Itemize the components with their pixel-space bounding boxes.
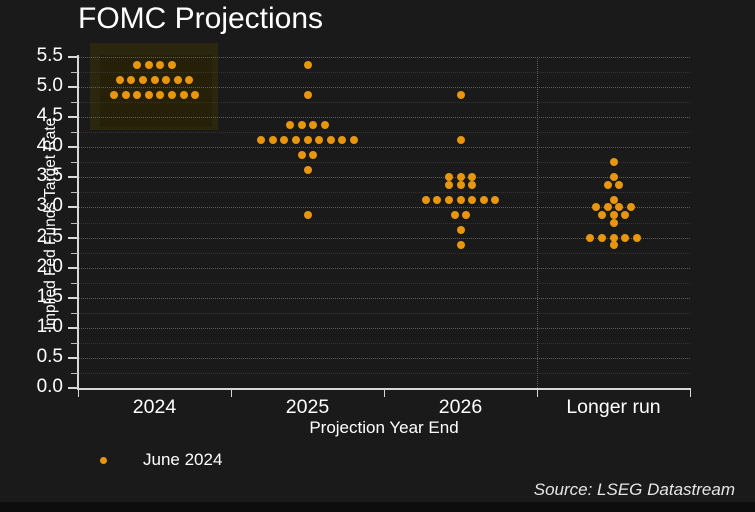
y-tick-mark-minor (71, 313, 78, 314)
gridline-major (78, 298, 690, 299)
data-point (156, 61, 164, 69)
y-tick-label: 2.5 (3, 226, 63, 248)
y-tick-label: 2.0 (3, 256, 63, 278)
legend-marker-icon (100, 457, 107, 464)
legend: June 2024 (100, 450, 222, 470)
data-point (491, 196, 499, 204)
y-tick-mark (68, 237, 78, 239)
data-point (304, 166, 312, 174)
data-point (604, 203, 612, 211)
data-point (174, 76, 182, 84)
gridline-minor (78, 72, 690, 73)
y-tick-mark-minor (71, 253, 78, 254)
data-point (445, 181, 453, 189)
gridline-major (78, 328, 690, 329)
y-tick-mark (68, 297, 78, 299)
data-point (304, 61, 312, 69)
data-point (298, 121, 306, 129)
y-tick-mark-minor (71, 102, 78, 103)
data-point (621, 211, 629, 219)
gridline-major (78, 358, 690, 359)
bottom-strip (0, 502, 755, 512)
data-point (168, 91, 176, 99)
y-tick-mark-minor (71, 223, 78, 224)
data-point (468, 196, 476, 204)
y-tick-label: 5.0 (3, 75, 63, 97)
data-point (457, 226, 465, 234)
data-point (610, 158, 618, 166)
data-point (586, 234, 594, 242)
data-point (156, 91, 164, 99)
chart-root: FOMC Projections Implied Fed Funds Targe… (0, 0, 755, 512)
y-tick-mark (68, 206, 78, 208)
y-tick-mark (68, 56, 78, 58)
data-point (457, 136, 465, 144)
category-separator (537, 57, 538, 388)
data-point (350, 136, 358, 144)
data-point (191, 91, 199, 99)
y-tick-label: 0.0 (3, 376, 63, 398)
gridline-minor (78, 102, 690, 103)
data-point (139, 76, 147, 84)
data-point (610, 241, 618, 249)
data-point (286, 121, 294, 129)
gridline-minor (78, 343, 690, 344)
x-tick-label: 2026 (381, 396, 541, 419)
y-tick-mark (68, 327, 78, 329)
data-point (598, 234, 606, 242)
data-point (598, 211, 606, 219)
y-tick-mark (68, 86, 78, 88)
data-point (457, 196, 465, 204)
y-tick-mark-minor (71, 162, 78, 163)
gridline-minor (78, 373, 690, 374)
data-point (604, 181, 612, 189)
data-point (457, 91, 465, 99)
data-point (615, 203, 623, 211)
gridline-major (78, 117, 690, 118)
data-point (133, 61, 141, 69)
gridline-major (78, 177, 690, 178)
legend-item-label: June 2024 (143, 450, 222, 470)
x-tick-label: Longer run (534, 396, 694, 419)
data-point (151, 76, 159, 84)
data-point (610, 211, 618, 219)
y-tick-mark (68, 176, 78, 178)
plot-area (78, 57, 690, 388)
data-point (633, 234, 641, 242)
y-tick-label: 4.0 (3, 135, 63, 157)
x-tick-label: 2024 (75, 396, 235, 419)
y-tick-mark-minor (71, 343, 78, 344)
data-point (592, 203, 600, 211)
data-point (309, 121, 317, 129)
gridline-minor (78, 313, 690, 314)
y-tick-label: 1.5 (3, 286, 63, 308)
y-tick-mark-minor (71, 283, 78, 284)
y-tick-label: 0.5 (3, 346, 63, 368)
data-point (257, 136, 265, 144)
data-point (610, 219, 618, 227)
gridline-minor (78, 132, 690, 133)
data-point (168, 61, 176, 69)
gridline-major (78, 57, 690, 58)
gridline-major (78, 147, 690, 148)
data-point (162, 76, 170, 84)
data-point (462, 211, 470, 219)
data-point (133, 91, 141, 99)
data-point (338, 136, 346, 144)
y-tick-label: 1.0 (3, 316, 63, 338)
gridline-major (78, 268, 690, 269)
data-point (127, 76, 135, 84)
data-point (321, 121, 329, 129)
data-point (627, 203, 635, 211)
data-point (280, 136, 288, 144)
data-point (451, 211, 459, 219)
data-point (615, 181, 623, 189)
y-tick-mark (68, 357, 78, 359)
y-tick-mark (68, 267, 78, 269)
data-point (110, 91, 118, 99)
y-tick-mark (68, 116, 78, 118)
data-point (116, 76, 124, 84)
data-point (610, 173, 618, 181)
data-point (621, 234, 629, 242)
data-point (309, 151, 317, 159)
gridline-minor (78, 162, 690, 163)
data-point (422, 196, 430, 204)
y-tick-mark-minor (71, 192, 78, 193)
y-tick-label: 3.0 (3, 195, 63, 217)
gridline-minor (78, 223, 690, 224)
data-point (304, 136, 312, 144)
x-tick-label: 2025 (228, 396, 388, 419)
source-note: Source: LSEG Datastream (534, 480, 735, 500)
x-axis-title: Projection Year End (78, 418, 690, 438)
y-tick-mark-minor (71, 132, 78, 133)
data-point (180, 91, 188, 99)
data-point (292, 136, 300, 144)
data-point (122, 91, 130, 99)
data-point (433, 196, 441, 204)
data-point (304, 211, 312, 219)
gridline-minor (78, 253, 690, 254)
gridline-major (78, 87, 690, 88)
data-point (327, 136, 335, 144)
page-title: FOMC Projections (78, 2, 323, 36)
data-point (298, 151, 306, 159)
data-point (315, 136, 323, 144)
data-point (269, 136, 277, 144)
y-tick-label: 4.5 (3, 105, 63, 127)
y-tick-mark-minor (71, 373, 78, 374)
data-point (457, 241, 465, 249)
data-point (145, 91, 153, 99)
y-tick-mark-minor (71, 72, 78, 73)
gridline-minor (78, 192, 690, 193)
y-tick-label: 5.5 (3, 45, 63, 67)
data-point (304, 91, 312, 99)
gridline-minor (78, 283, 690, 284)
y-tick-label: 3.5 (3, 165, 63, 187)
data-point (457, 181, 465, 189)
y-tick-mark (68, 146, 78, 148)
data-point (145, 61, 153, 69)
data-point (445, 196, 453, 204)
data-point (185, 76, 193, 84)
data-point (468, 181, 476, 189)
y-tick-mark (68, 387, 78, 389)
data-point (480, 196, 488, 204)
